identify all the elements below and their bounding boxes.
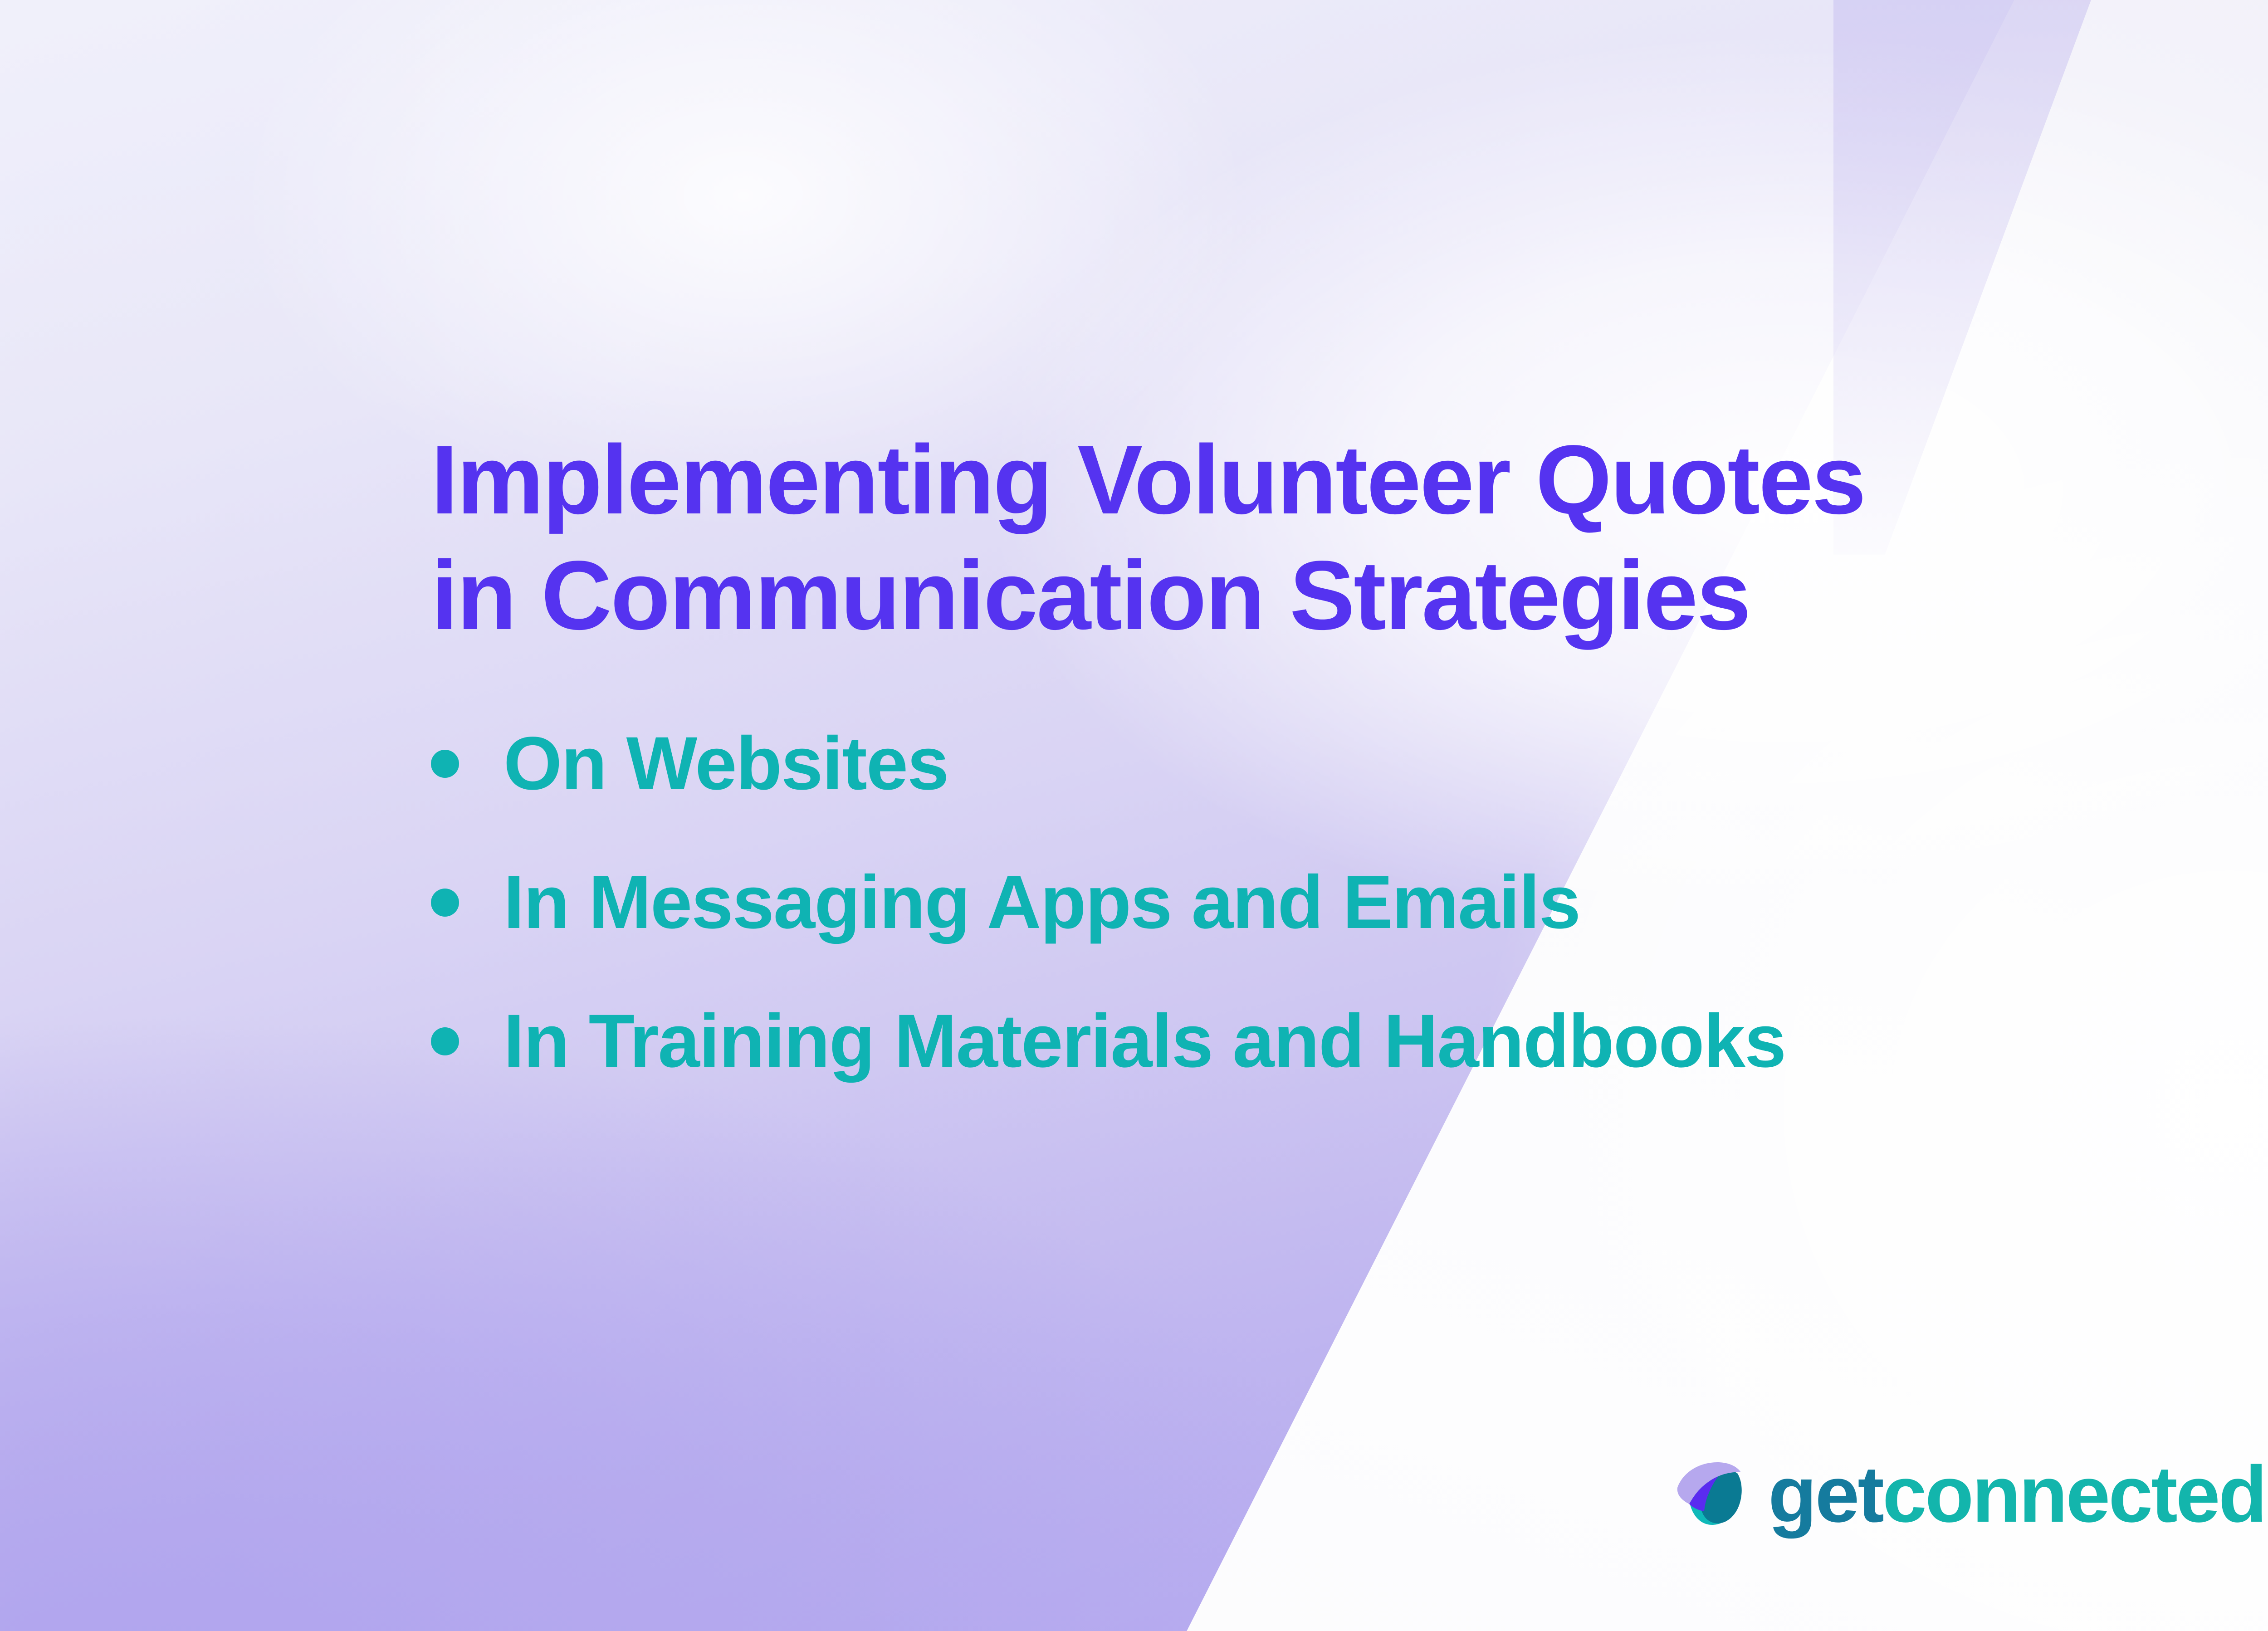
bullet-label: On Websites (503, 726, 948, 801)
logo-wordmark: getconnected (1768, 1455, 2265, 1534)
bullet-dot-icon (431, 889, 459, 917)
bullet-label: In Messaging Apps and Emails (503, 865, 1580, 940)
list-item: On Websites (431, 721, 2200, 806)
bullet-dot-icon (431, 1027, 459, 1055)
bullet-list: On Websites In Messaging Apps and Emails… (431, 721, 2200, 1084)
logo-word-connected: connected (1882, 1450, 2265, 1539)
slide-content: Implementing Volunteer Quotes in Communi… (431, 422, 2200, 1138)
bullet-dot-icon (431, 750, 459, 778)
bullet-label: In Training Materials and Handbooks (503, 1004, 1785, 1079)
presentation-slide: Implementing Volunteer Quotes in Communi… (0, 0, 2268, 1631)
slide-title: Implementing Volunteer Quotes in Communi… (431, 422, 2200, 653)
getconnected-droplet-mark (1674, 1454, 1748, 1535)
list-item: In Messaging Apps and Emails (431, 860, 2200, 945)
logo-word-get: get (1768, 1450, 1882, 1539)
list-item: In Training Materials and Handbooks (431, 999, 2200, 1084)
getconnected-logo: getconnected (1674, 1454, 2265, 1535)
